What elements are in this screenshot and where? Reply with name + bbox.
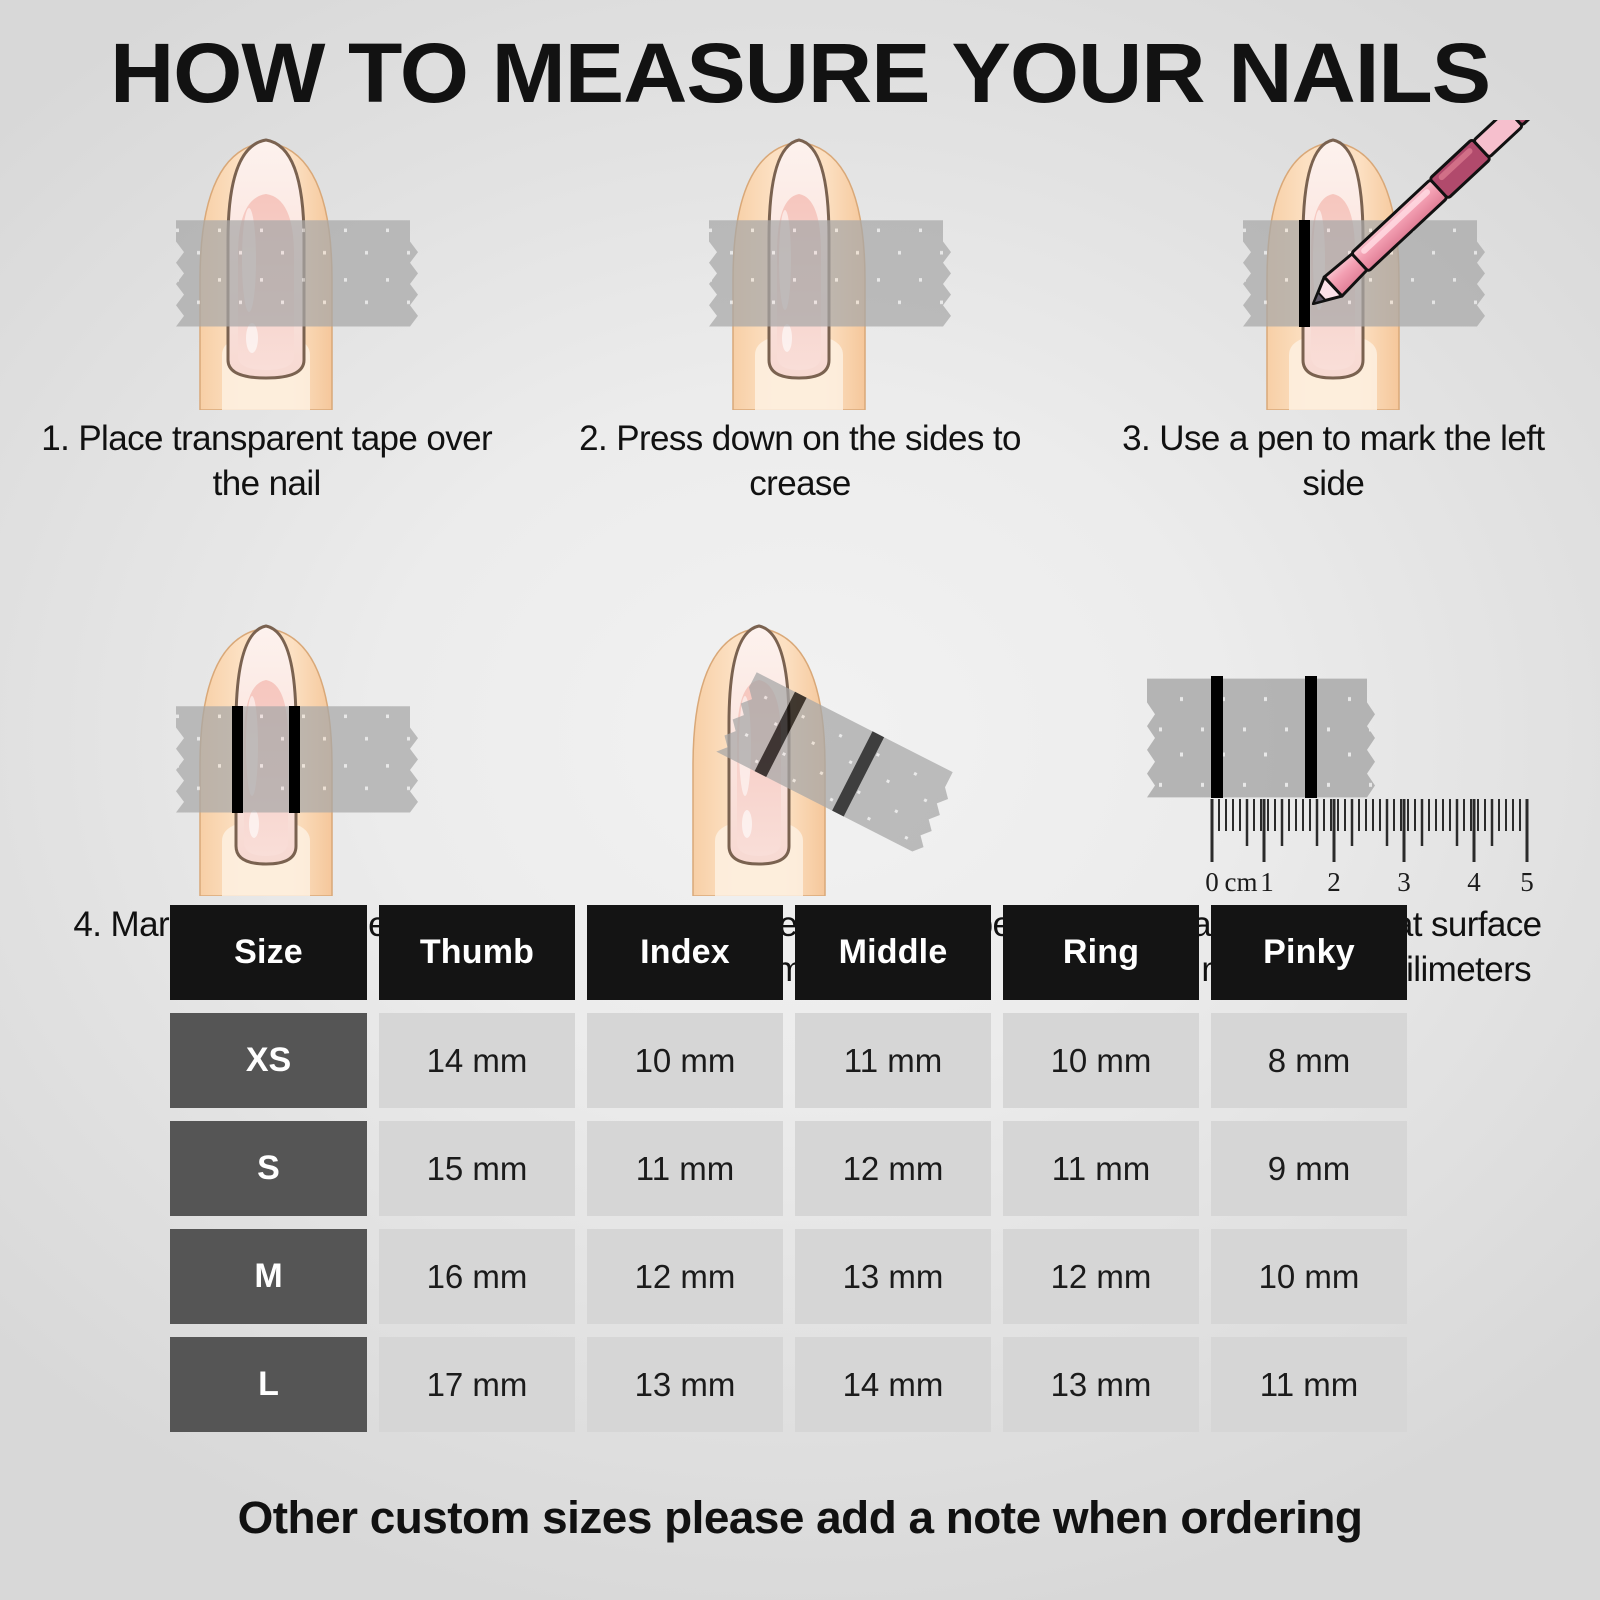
size-label-m: M	[170, 1229, 367, 1324]
size-label-s: S	[170, 1121, 367, 1216]
pen-mark-right	[289, 706, 300, 813]
ruler-labels: 0 cm 1 2 3 4 5	[1205, 867, 1534, 896]
pen-mark-left	[1299, 220, 1310, 327]
step-1-illustration	[0, 120, 533, 410]
table-header-index: Index	[587, 905, 783, 1000]
ruler-tick-4: 4	[1467, 867, 1481, 896]
cell-m-pinky: 10 mm	[1211, 1229, 1407, 1324]
cell-l-ring: 13 mm	[1003, 1337, 1199, 1432]
cell-s-thumb: 15 mm	[379, 1121, 575, 1216]
steps-grid: 1. Place transparent tape over the nail	[0, 120, 1600, 992]
cell-l-pinky: 11 mm	[1211, 1337, 1407, 1432]
step-1: 1. Place transparent tape over the nail	[0, 120, 533, 506]
table-header-size: Size	[170, 905, 367, 1000]
cell-l-middle: 14 mm	[795, 1337, 991, 1432]
step-2-caption: 2. Press down on the sides to crease	[560, 416, 1040, 506]
size-chart-table: Size Thumb Index Middle Ring Pinky XS 14…	[170, 905, 1440, 1432]
cell-xs-index: 10 mm	[587, 1013, 783, 1108]
step-3-caption: 3. Use a pen to mark the left side	[1093, 416, 1573, 506]
ruler-tick-2: 2	[1327, 867, 1341, 896]
tape-strip-flat	[1147, 679, 1375, 798]
footer-note: Other custom sizes please add a note whe…	[0, 1492, 1600, 1544]
pen-mark-left	[1211, 676, 1223, 798]
size-label-l: L	[170, 1337, 367, 1432]
cell-xs-pinky: 8 mm	[1211, 1013, 1407, 1108]
ruler-tick-5: 5	[1520, 867, 1534, 896]
tape-strip	[709, 220, 951, 326]
cell-m-thumb: 16 mm	[379, 1229, 575, 1324]
cell-m-index: 12 mm	[587, 1229, 783, 1324]
infographic-page: HOW TO MEASURE YOUR NAILS	[0, 0, 1600, 1600]
ruler-tick-3: 3	[1397, 867, 1411, 896]
cell-l-thumb: 17 mm	[379, 1337, 575, 1432]
step-2-illustration	[533, 120, 1066, 410]
table-header-row: Size Thumb Index Middle Ring Pinky	[170, 905, 1440, 1000]
table-row: L 17 mm 13 mm 14 mm 13 mm 11 mm	[170, 1337, 1440, 1432]
step-1-caption: 1. Place transparent tape over the nail	[27, 416, 507, 506]
cell-l-index: 13 mm	[587, 1337, 783, 1432]
step-3: 3. Use a pen to mark the left side	[1067, 120, 1600, 506]
table-row: XS 14 mm 10 mm 11 mm 10 mm 8 mm	[170, 1013, 1440, 1108]
table-header-thumb: Thumb	[379, 905, 575, 1000]
cell-xs-thumb: 14 mm	[379, 1013, 575, 1108]
step-5-illustration	[533, 606, 1066, 896]
step-2: 2. Press down on the sides to crease	[533, 120, 1066, 506]
cell-s-ring: 11 mm	[1003, 1121, 1199, 1216]
step-4-illustration	[0, 606, 533, 896]
cell-m-ring: 12 mm	[1003, 1229, 1199, 1324]
steps-row-1: 1. Place transparent tape over the nail	[0, 120, 1600, 506]
ruler	[1212, 799, 1527, 862]
cell-xs-middle: 11 mm	[795, 1013, 991, 1108]
page-title: HOW TO MEASURE YOUR NAILS	[0, 28, 1600, 118]
cell-s-pinky: 9 mm	[1211, 1121, 1407, 1216]
table-header-ring: Ring	[1003, 905, 1199, 1000]
cell-s-middle: 12 mm	[795, 1121, 991, 1216]
pen-mark-left	[232, 706, 243, 813]
step-3-illustration	[1067, 120, 1600, 410]
table-header-pinky: Pinky	[1211, 905, 1407, 1000]
ruler-tick-1: 1	[1260, 867, 1274, 896]
table-row: M 16 mm 12 mm 13 mm 12 mm 10 mm	[170, 1229, 1440, 1324]
size-label-xs: XS	[170, 1013, 367, 1108]
pen-mark-right	[1305, 676, 1317, 798]
cell-s-index: 11 mm	[587, 1121, 783, 1216]
ruler-tick-0: 0	[1205, 867, 1219, 896]
step-6-illustration: 0 cm 1 2 3 4 5	[1067, 606, 1600, 896]
table-header-middle: Middle	[795, 905, 991, 1000]
table-row: S 15 mm 11 mm 12 mm 11 mm 9 mm	[170, 1121, 1440, 1216]
cell-m-middle: 13 mm	[795, 1229, 991, 1324]
ruler-unit-label: cm	[1224, 867, 1257, 896]
cell-xs-ring: 10 mm	[1003, 1013, 1199, 1108]
tape-strip	[176, 220, 418, 326]
